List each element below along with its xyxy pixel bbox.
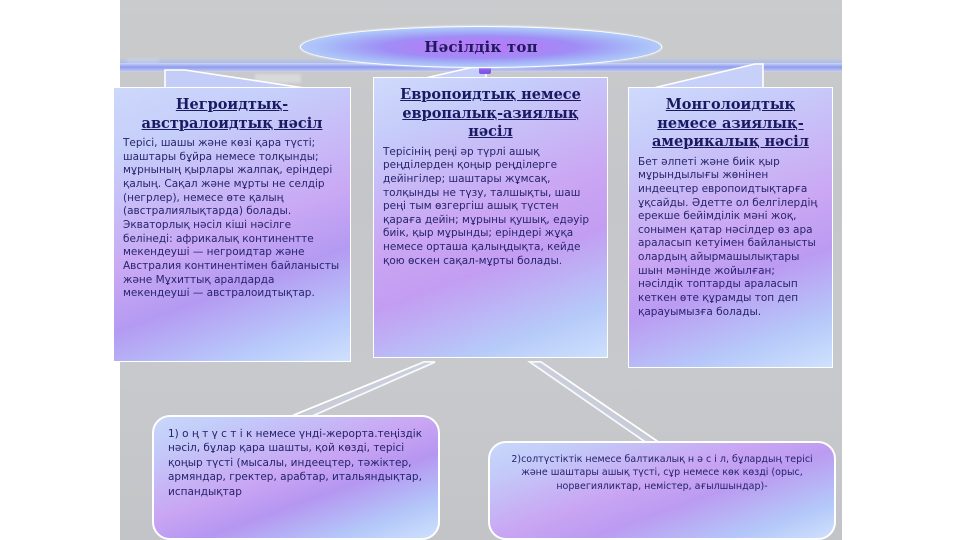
node-northern-baltic-text: 2)солтүстіктік немесе балтикалық н ә с і… [504,453,820,493]
node-mongoloid-body: Бет әлпеті және биік қыр мұрындылығы жөн… [638,156,823,320]
node-southern-indo-mediterranean-text: 1) о ң т ү с т і к немесе үнді-жерорта.т… [168,427,424,499]
node-southern-indo-mediterranean[interactable]: 1) о ң т ү с т і к немесе үнді-жерорта.т… [152,415,440,540]
node-mongoloid-heading: Монголоидтық немесе азиялық-америкалық н… [638,96,823,152]
node-europoid-heading: Европоидтық немесе европалық-азиялық нәс… [383,86,598,142]
node-negroid-australoid-heading: Негроидтық-австралоидтық нәсіл [123,96,341,133]
diagram-title[interactable]: Нәсілдік топ [300,26,662,68]
node-europoid[interactable]: Европоидтық немесе европалық-азиялық нәс… [373,77,608,358]
node-mongoloid[interactable]: Монголоидтық немесе азиялық-америкалық н… [628,87,833,368]
slide-canvas: Нәсілдік топ Негроидтық-австралоидтық нә… [0,0,960,540]
node-negroid-australoid[interactable]: Негроидтық-австралоидтық нәсіл Терісі, ш… [113,87,351,362]
node-negroid-australoid-body: Терісі, шашы және көзі қара түсті; шашта… [123,137,341,301]
node-northern-baltic[interactable]: 2)солтүстіктік немесе балтикалық н ә с і… [488,441,836,540]
node-europoid-body: Терісінің реңі әр түрлі ашық реңділерден… [383,146,598,269]
diagram-title-label: Нәсілдік топ [424,38,538,56]
